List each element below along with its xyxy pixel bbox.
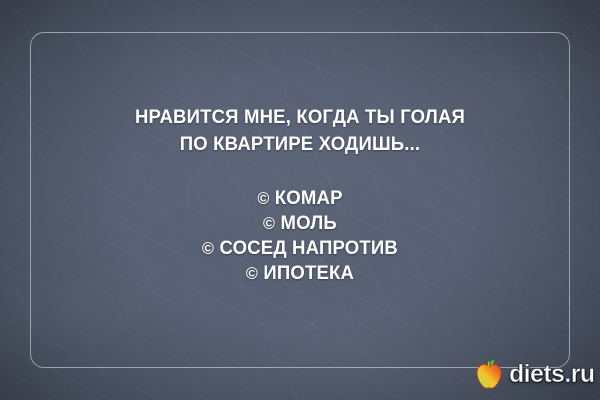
headline-line-2: ПО КВАРТИРЕ ХОДИШЬ... [15,131,585,158]
headline-line-1: НРАВИТСЯ МНЕ, КОГДА ТЫ ГОЛАЯ [15,104,585,131]
credit-item-1: © КОМАР [15,186,585,211]
credit-label-1: КОМАР [275,187,343,209]
diets-ru-logo[interactable]: diets.ru [474,358,595,390]
credit-item-3: © СОСЕД НАПРОТИВ [15,236,585,261]
copyright-icon: © [257,189,269,208]
headline: НРАВИТСЯ МНЕ, КОГДА ТЫ ГОЛАЯ ПО КВАРТИРЕ… [0,104,600,158]
apple-icon [474,358,504,390]
credit-label-4: ИПОТЕКА [263,262,354,284]
credit-label-2: МОЛЬ [280,212,336,234]
credit-label-3: СОСЕД НАПРОТИВ [220,237,398,259]
copyright-icon: © [246,264,258,283]
credits-list: © КОМАР © МОЛЬ © СОСЕД НАПРОТИВ © ИПОТЕК… [0,186,600,286]
logo-wordmark: diets.ru [509,362,595,387]
copyright-icon: © [202,239,214,258]
credit-item-2: © МОЛЬ [15,211,585,236]
credit-item-4: © ИПОТЕКА [15,261,585,286]
meme-card: НРАВИТСЯ МНЕ, КОГДА ТЫ ГОЛАЯ ПО КВАРТИРЕ… [0,0,600,400]
caption-block: НРАВИТСЯ МНЕ, КОГДА ТЫ ГОЛАЯ ПО КВАРТИРЕ… [0,104,600,286]
copyright-icon: © [263,214,275,233]
